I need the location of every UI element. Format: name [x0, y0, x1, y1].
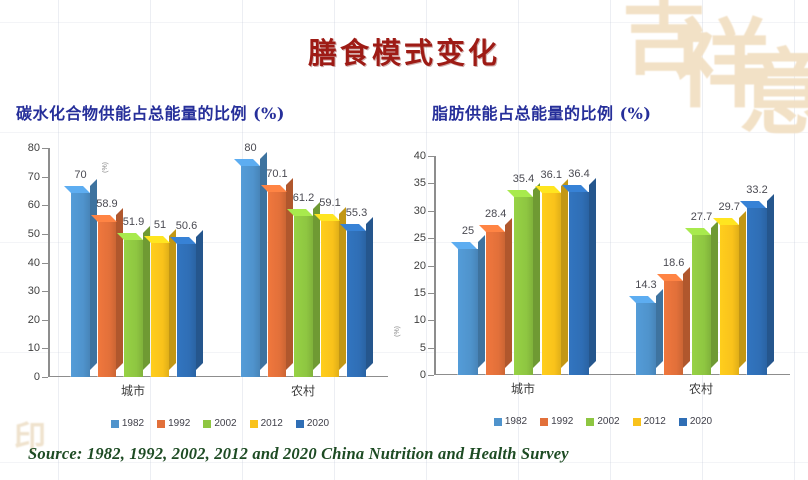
bar-slot: 36.4 — [565, 156, 593, 375]
bar-slot: 25 — [454, 156, 482, 375]
bar-top — [451, 242, 477, 249]
bar-slot: 51 — [146, 148, 173, 377]
bar-slot: 51.9 — [120, 148, 147, 377]
bar-value-label: 29.7 — [719, 201, 740, 213]
y-axis-tick-label: 10 — [414, 314, 426, 326]
legend-swatch — [111, 420, 119, 428]
bar-face — [177, 244, 196, 377]
y-axis-tick-label: 25 — [414, 232, 426, 244]
chart-fat: 2528.435.436.136.4城市14.318.627.729.733.2… — [392, 148, 796, 433]
y-axis-tick — [42, 348, 48, 349]
bar-top — [64, 186, 90, 193]
bar-top — [562, 185, 588, 192]
bar-face — [720, 225, 739, 375]
legend-label: 2012 — [644, 416, 666, 427]
bar-top — [657, 274, 683, 281]
bar-top — [685, 228, 711, 235]
bar-1982-fat[interactable]: 25 — [457, 249, 477, 375]
legend-swatch — [633, 418, 641, 426]
bar-face — [71, 193, 90, 377]
y-axis-tick-label: 40 — [414, 150, 426, 162]
bar-side — [196, 230, 203, 370]
legend-label: 2002 — [214, 418, 236, 429]
bar-face — [151, 243, 170, 377]
bar-top — [314, 214, 340, 221]
bar-top — [535, 186, 561, 193]
bar-slot: 70 — [67, 148, 94, 377]
y-axis-tick — [42, 291, 48, 292]
bar-2002-carbohydrate[interactable]: 61.2 — [293, 216, 313, 377]
bar-face — [241, 166, 260, 377]
bar-side — [366, 217, 373, 370]
bar-top — [170, 237, 196, 244]
legend-item-2020[interactable]: 2020 — [679, 416, 712, 427]
bar-face — [294, 216, 313, 377]
bar-face — [458, 249, 477, 375]
bar-2012-carbohydrate[interactable]: 59.1 — [320, 221, 340, 377]
bar-value-label: 27.7 — [691, 211, 712, 223]
category-label: 城市 — [434, 380, 612, 397]
legend-swatch — [494, 418, 502, 426]
y-axis-tick — [428, 320, 434, 321]
legend-label: 2002 — [597, 416, 619, 427]
page-title: 膳食模式变化 — [0, 30, 808, 72]
bar-face — [124, 240, 143, 377]
y-axis-tick — [428, 266, 434, 267]
legend-label: 1992 — [168, 418, 190, 429]
bar-slot: 35.4 — [509, 156, 537, 375]
bar-value-label: 14.3 — [635, 279, 656, 291]
bar-1992-fat[interactable]: 18.6 — [663, 281, 683, 375]
y-axis-tick — [428, 348, 434, 349]
bar-group-inner: 7058.951.95150.6 — [67, 148, 200, 377]
y-axis-tick-label: 50 — [28, 228, 40, 240]
bar-group: 14.318.627.729.733.2农村 — [612, 156, 790, 375]
bar-top — [144, 236, 170, 243]
bar-1992-carbohydrate[interactable]: 70.1 — [267, 192, 287, 377]
legend-item-1992[interactable]: 1992 — [157, 418, 190, 429]
legend-label: 1982 — [505, 416, 527, 427]
decorative-seal-watermark: 吉 祥 意 — [622, 2, 798, 152]
bar-face — [664, 281, 683, 375]
bar-2012-fat[interactable]: 36.1 — [541, 193, 561, 375]
y-axis-tick — [428, 183, 434, 184]
legend-item-1982[interactable]: 1982 — [494, 416, 527, 427]
y-axis-tick — [428, 293, 434, 294]
bar-slot: 33.2 — [743, 156, 771, 375]
y-axis-tick-label: 40 — [28, 257, 40, 269]
y-axis-tick — [428, 156, 434, 157]
bar-slot: 58.9 — [93, 148, 120, 377]
bar-1982-carbohydrate[interactable]: 80 — [240, 166, 260, 377]
y-axis-tick — [428, 238, 434, 239]
y-axis-tick — [42, 234, 48, 235]
legend-item-2002[interactable]: 2002 — [203, 418, 236, 429]
bar-top — [117, 233, 143, 240]
chart-left-subtitle: 碳水化合物供能占总能量的比例 (%) — [16, 100, 285, 124]
bar-slot: 61.2 — [290, 148, 317, 377]
bar-face — [321, 221, 340, 377]
bar-value-label: 36.1 — [541, 169, 562, 181]
bar-top — [629, 296, 655, 303]
bar-group: 7058.951.95150.6城市 — [48, 148, 218, 377]
y-axis-tick-label: 15 — [414, 287, 426, 299]
y-axis-unit-label: (%) — [102, 162, 109, 173]
bar-2020-fat[interactable]: 33.2 — [746, 208, 766, 375]
bar-top — [261, 185, 287, 192]
legend-fat: 19821992200220122020 — [392, 416, 796, 427]
bar-value-label: 18.6 — [663, 257, 684, 269]
bar-slot: 29.7 — [715, 156, 743, 375]
y-axis-tick-label: 30 — [28, 285, 40, 297]
bar-value-label: 80 — [244, 142, 256, 154]
y-axis-tick — [42, 263, 48, 264]
bar-1982-fat[interactable]: 14.3 — [635, 303, 655, 375]
bar-1982-carbohydrate[interactable]: 70 — [70, 193, 90, 377]
bar-slot: 28.4 — [481, 156, 509, 375]
bar-2002-fat[interactable]: 35.4 — [513, 197, 533, 375]
bar-value-label: 35.4 — [513, 173, 534, 185]
plot-area-fat: 2528.435.436.136.4城市14.318.627.729.733.2… — [434, 156, 790, 375]
bar-group: 8070.161.259.155.3农村 — [218, 148, 388, 377]
bar-face — [636, 303, 655, 375]
y-axis-tick-label: 0 — [420, 369, 426, 381]
legend-swatch — [157, 420, 165, 428]
bar-2012-carbohydrate[interactable]: 51 — [150, 243, 170, 377]
y-axis-tick-label: 20 — [28, 314, 40, 326]
legend-label: 2020 — [690, 416, 712, 427]
bar-2020-carbohydrate[interactable]: 50.6 — [176, 244, 196, 377]
bar-top — [713, 218, 739, 225]
bar-face — [692, 235, 711, 375]
y-axis-tick-label: 10 — [28, 342, 40, 354]
bar-value-label: 50.6 — [176, 220, 197, 232]
bar-slot: 55.3 — [343, 148, 370, 377]
legend-item-2020[interactable]: 2020 — [296, 418, 329, 429]
bar-slot: 50.6 — [173, 148, 200, 377]
bar-value-label: 55.3 — [346, 207, 367, 219]
bar-top — [479, 225, 505, 232]
bar-top — [740, 201, 766, 208]
bar-top — [234, 159, 260, 166]
legend-swatch — [296, 420, 304, 428]
bar-value-label: 61.2 — [293, 192, 314, 204]
legend-label: 2012 — [261, 418, 283, 429]
category-label: 城市 — [48, 382, 218, 399]
bar-value-label: 36.4 — [568, 168, 589, 180]
bar-slot: 80 — [237, 148, 264, 377]
chart-right-subtitle: 脂肪供能占总能量的比例 (%) — [432, 100, 651, 124]
bar-group: 2528.435.436.136.4城市 — [434, 156, 612, 375]
chart-carbohydrate: 7058.951.95150.6城市8070.161.259.155.3农村 0… — [6, 140, 394, 435]
category-label: 农村 — [218, 382, 388, 399]
y-axis-tick-label: 20 — [414, 260, 426, 272]
bar-top — [91, 215, 117, 222]
bar-groups: 7058.951.95150.6城市8070.161.259.155.3农村 — [48, 148, 388, 377]
legend-label: 1992 — [551, 416, 573, 427]
bar-side — [589, 178, 596, 368]
legend-swatch — [250, 420, 258, 428]
bar-groups: 2528.435.436.136.4城市14.318.627.729.733.2… — [434, 156, 790, 375]
legend-item-2002[interactable]: 2002 — [586, 416, 619, 427]
bar-side — [767, 194, 774, 368]
bar-slot: 27.7 — [687, 156, 715, 375]
legend-item-2012[interactable]: 2012 — [633, 416, 666, 427]
legend-carbohydrate: 19821992200220122020 — [6, 418, 394, 429]
legend-swatch — [203, 420, 211, 428]
y-axis-tick-label: 80 — [28, 142, 40, 154]
y-axis-tick-label: 70 — [28, 171, 40, 183]
bar-value-label: 70 — [74, 169, 86, 181]
y-axis-tick — [428, 375, 434, 376]
bar-group-inner: 2528.435.436.136.4 — [454, 156, 593, 375]
bar-group-inner: 8070.161.259.155.3 — [237, 148, 370, 377]
bar-value-label: 59.1 — [319, 197, 340, 209]
bar-slot: 14.3 — [632, 156, 660, 375]
legend-item-2012[interactable]: 2012 — [250, 418, 283, 429]
bar-slot: 59.1 — [316, 148, 343, 377]
legend-swatch — [679, 418, 687, 426]
bar-2002-carbohydrate[interactable]: 51.9 — [123, 240, 143, 377]
bar-top — [287, 209, 313, 216]
source-note: Source: 1982, 1992, 2002, 2012 and 2020 … — [28, 444, 569, 464]
y-axis-tick-label: 30 — [414, 205, 426, 217]
bar-face — [569, 192, 588, 375]
plot-area-carbohydrate: 7058.951.95150.6城市8070.161.259.155.3农村 0… — [48, 148, 388, 377]
legend-item-1992[interactable]: 1992 — [540, 416, 573, 427]
bar-face — [347, 231, 366, 377]
bar-face — [98, 222, 117, 377]
y-axis-tick — [428, 211, 434, 212]
y-axis-tick — [42, 205, 48, 206]
bar-value-label: 33.2 — [746, 184, 767, 196]
bar-1992-carbohydrate[interactable]: 58.9 — [97, 222, 117, 377]
bar-value-label: 28.4 — [485, 208, 506, 220]
y-axis-tick-label: 60 — [28, 199, 40, 211]
bar-face — [747, 208, 766, 375]
bar-face — [542, 193, 561, 375]
bar-group-inner: 14.318.627.729.733.2 — [632, 156, 771, 375]
bar-value-label: 58.9 — [96, 198, 117, 210]
category-label: 农村 — [612, 380, 790, 397]
y-axis-tick-label: 0 — [34, 371, 40, 383]
y-axis-tick — [42, 320, 48, 321]
legend-swatch — [586, 418, 594, 426]
bar-2020-fat[interactable]: 36.4 — [568, 192, 588, 375]
y-axis-tick-label: 5 — [420, 342, 426, 354]
bar-2002-fat[interactable]: 27.7 — [691, 235, 711, 375]
y-axis-tick-label: 35 — [414, 177, 426, 189]
bar-1992-fat[interactable]: 28.4 — [485, 232, 505, 375]
legend-label: 2020 — [307, 418, 329, 429]
bar-value-label: 51.9 — [123, 216, 144, 228]
bar-face — [268, 192, 287, 377]
bar-value-label: 70.1 — [266, 168, 287, 180]
bar-face — [486, 232, 505, 375]
y-axis-tick — [42, 177, 48, 178]
legend-label: 1982 — [122, 418, 144, 429]
bar-slot: 70.1 — [263, 148, 290, 377]
y-axis-unit-label: (%) — [394, 326, 401, 337]
bar-2020-carbohydrate[interactable]: 55.3 — [346, 231, 366, 377]
bar-slot: 18.6 — [659, 156, 687, 375]
legend-item-1982[interactable]: 1982 — [111, 418, 144, 429]
bar-face — [514, 197, 533, 375]
bar-top — [340, 224, 366, 231]
y-axis-tick — [42, 377, 48, 378]
bar-slot: 36.1 — [537, 156, 565, 375]
bar-value-label: 25 — [462, 225, 474, 237]
y-axis-tick — [42, 148, 48, 149]
bar-top — [507, 190, 533, 197]
bar-2012-fat[interactable]: 29.7 — [719, 225, 739, 375]
bar-value-label: 51 — [154, 219, 166, 231]
legend-swatch — [540, 418, 548, 426]
